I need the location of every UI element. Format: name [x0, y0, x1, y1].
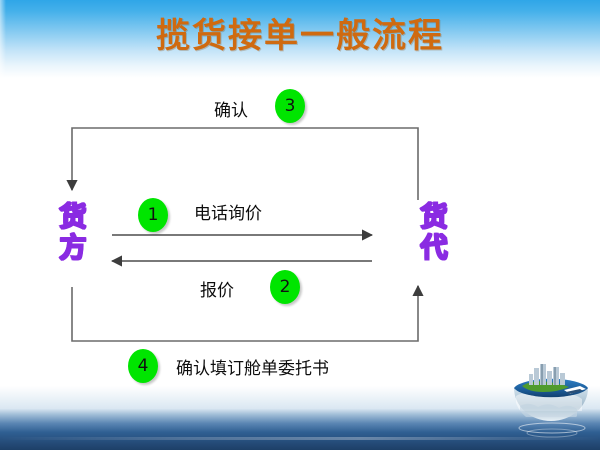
- step-badge-3: 3: [275, 89, 305, 123]
- step-label-3: 确认: [214, 96, 248, 121]
- step-label-1: 电话询价: [194, 199, 262, 224]
- party-shipper-char-1: 货: [45, 202, 101, 233]
- step-badge-2: 2: [270, 270, 300, 304]
- step-label-2: 报价: [200, 276, 234, 301]
- arrow-step-4: [72, 286, 418, 341]
- party-forwarder-char-1: 货: [406, 202, 462, 233]
- party-label-forwarder: 货 代: [406, 202, 462, 264]
- step-badge-1: 1: [138, 198, 168, 232]
- party-label-shipper: 货 方: [45, 202, 101, 264]
- slide-canvas: 揽货接单一般流程 货 方 货 代 1 2 3: [0, 0, 600, 450]
- step-badge-4: 4: [128, 349, 158, 383]
- globe-bowl-logo-icon: [508, 362, 594, 440]
- step-label-4: 确认填订舱单委托书: [176, 354, 329, 379]
- party-shipper-char-2: 方: [45, 233, 101, 264]
- arrow-step-3: [72, 128, 418, 200]
- party-forwarder-char-2: 代: [406, 233, 462, 264]
